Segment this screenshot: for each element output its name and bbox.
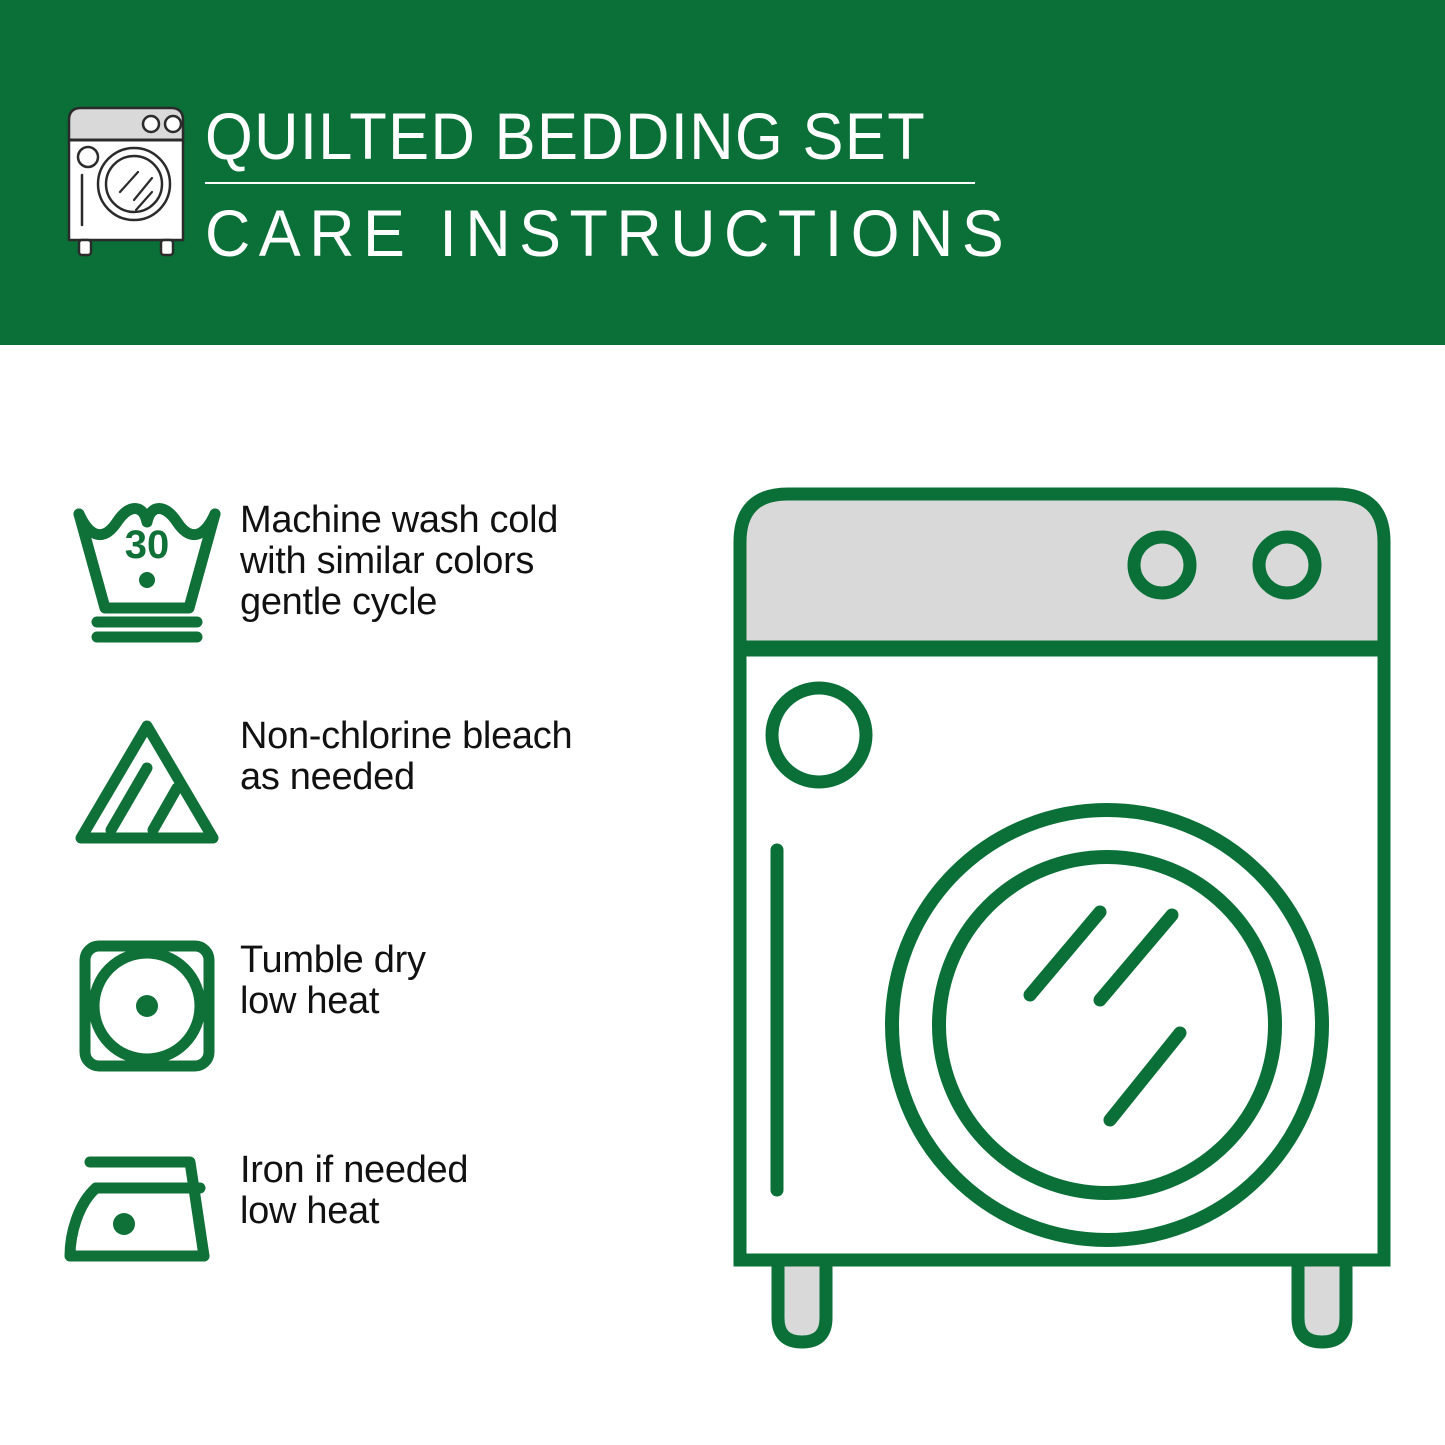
care-label-line: Non-chlorine bleach [240,716,572,757]
care-label-line: gentle cycle [240,582,558,623]
care-label-line: low heat [240,1191,468,1232]
care-row-bleach: Non-chlorine bleach as needed [62,712,702,852]
tumble-dry-icon [62,936,232,1076]
care-row-tumble-dry: Tumble dry low heat [62,936,702,1076]
title-divider [205,182,975,184]
care-label-bleach: Non-chlorine bleach as needed [232,712,572,798]
control-panel [740,494,1384,650]
iron-icon [62,1146,232,1276]
leg-right [1298,1260,1346,1342]
care-label-line: as needed [240,757,572,798]
care-instructions-infographic: QUILTED BEDDING SET CARE INSTRUCTIONS 30 [0,0,1445,1445]
wash-temperature-label: 30 [125,523,170,567]
header-title-block: QUILTED BEDDING SET CARE INSTRUCTIONS [205,98,995,272]
care-label-line: Iron if needed [240,1150,468,1191]
leg-left [778,1260,826,1342]
page-title: QUILTED BEDDING SET [205,98,940,174]
washing-machine-illustration [722,480,1402,1360]
care-label-tumble-dry: Tumble dry low heat [232,936,426,1022]
care-label-line: Tumble dry [240,940,426,981]
care-label-line: Machine wash cold [240,500,558,541]
care-row-machine-wash: 30 Machine wash cold with similar colors… [62,496,702,646]
wash-tub-icon: 30 [62,496,232,646]
care-label-line: low heat [240,981,426,1022]
washing-machine-icon [62,100,190,258]
page-subtitle: CARE INSTRUCTIONS [205,194,956,272]
header-banner: QUILTED BEDDING SET CARE INSTRUCTIONS [0,0,1445,345]
care-label-iron: Iron if needed low heat [232,1146,468,1232]
care-label-machine-wash: Machine wash cold with similar colors ge… [232,496,558,623]
care-row-iron: Iron if needed low heat [62,1146,702,1276]
care-label-line: with similar colors [240,541,558,582]
bleach-triangle-icon [62,712,232,852]
